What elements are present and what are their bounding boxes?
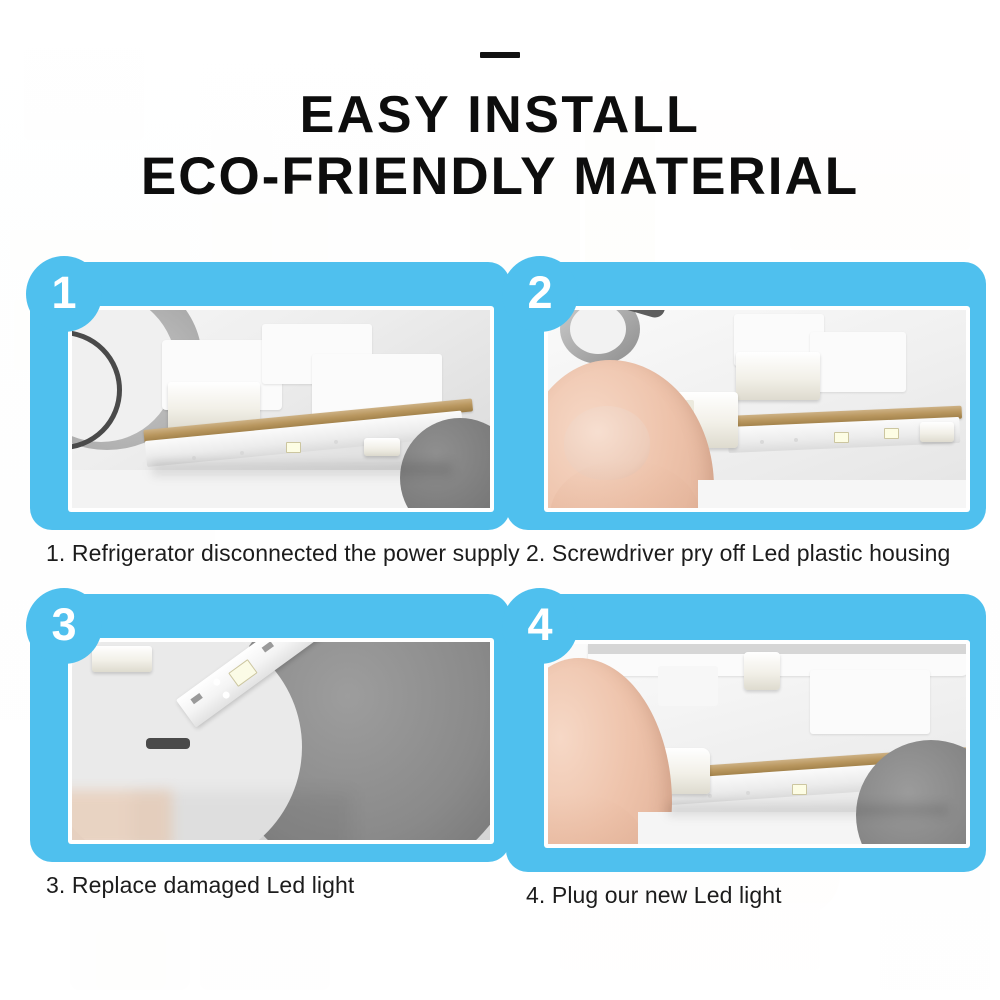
step-number-badge-3: 3 — [26, 588, 102, 664]
install-steps-grid: 1 — [0, 262, 1000, 934]
step-number-2: 2 — [527, 270, 552, 315]
step-4-caption: 4. Plug our new Led light — [506, 882, 986, 909]
step-4-frame: 4 — [506, 594, 986, 872]
step-number-4: 4 — [527, 602, 552, 647]
steps-row-bottom: 3 — [0, 594, 1000, 934]
step-4-photo — [548, 644, 966, 844]
step-3-frame: 3 — [30, 594, 510, 862]
step-number-badge-4: 4 — [502, 588, 578, 664]
step-1-frame: 1 — [30, 262, 510, 530]
step-2-photo — [548, 310, 966, 508]
step-number-badge-1: 1 — [26, 256, 102, 332]
page-title-line-1: EASY INSTALL — [0, 84, 1000, 146]
step-3-caption: 3. Replace damaged Led light — [30, 872, 510, 899]
step-1-photo-border — [68, 306, 494, 512]
step-2-frame: 2 — [506, 262, 986, 530]
step-number-badge-2: 2 — [502, 256, 578, 332]
header-block: EASY INSTALL ECO-FRIENDLY MATERIAL — [0, 52, 1000, 208]
step-4-photo-border — [544, 640, 970, 848]
step-2-photo-border — [544, 306, 970, 512]
horizontal-rule-icon — [480, 52, 520, 58]
step-3-photo — [72, 642, 490, 840]
step-number-1: 1 — [51, 270, 76, 315]
steps-row-top: 1 — [0, 262, 1000, 594]
step-1-caption: 1. Refrigerator disconnected the power s… — [30, 540, 510, 567]
page-title-line-2: ECO-FRIENDLY MATERIAL — [0, 146, 1000, 208]
step-number-3: 3 — [51, 602, 76, 647]
step-card-2[interactable]: 2 — [506, 262, 986, 567]
step-3-photo-border — [68, 638, 494, 844]
step-1-photo — [72, 310, 490, 508]
step-card-1[interactable]: 1 — [30, 262, 510, 567]
step-2-caption: 2. Screwdriver pry off Led plastic housi… — [506, 540, 986, 567]
step-card-3[interactable]: 3 — [30, 594, 510, 899]
step-card-4[interactable]: 4 — [506, 594, 986, 909]
